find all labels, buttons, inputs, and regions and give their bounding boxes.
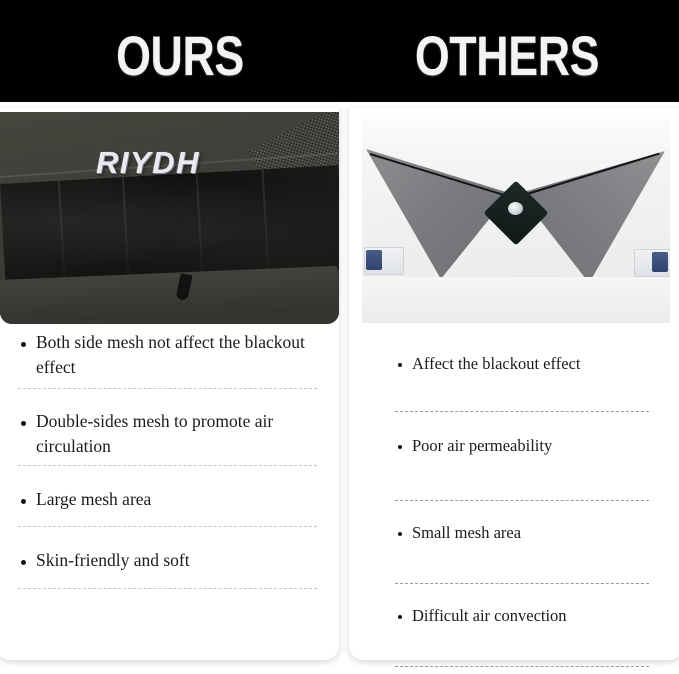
dashed-separator (395, 666, 649, 667)
brand-logo-text: RIYDH (96, 145, 200, 181)
photo-others-mesh-tent (362, 113, 670, 323)
bullet-icon (21, 499, 26, 504)
list-item: Small mesh area (349, 501, 679, 561)
feature-text: Difficult air convection (412, 604, 657, 628)
list-item: Affect the blackout effect (349, 330, 679, 388)
bullet-icon (21, 421, 26, 426)
feature-list-ours: Both side mesh not affect the blackout e… (0, 330, 339, 589)
tent-floor (362, 277, 670, 323)
bullet-icon (398, 363, 402, 367)
feature-text: Both side mesh not affect the blackout e… (36, 330, 317, 380)
bullet-icon (21, 342, 26, 347)
bullet-icon (398, 445, 402, 449)
bullet-icon (21, 560, 26, 565)
list-item: Double-sides mesh to promote air circula… (0, 389, 339, 465)
side-vent-right-accent (652, 252, 668, 272)
feature-text: Skin-friendly and soft (36, 548, 317, 573)
header-title-others: OTHERS (391, 26, 623, 86)
list-item: Difficult air convection (349, 584, 679, 644)
side-vent-left-accent (366, 250, 382, 270)
feature-text: Large mesh area (36, 487, 317, 512)
dashed-separator (18, 588, 317, 589)
feature-text: Affect the blackout effect (412, 352, 657, 376)
feature-text: Small mesh area (412, 521, 657, 545)
bullet-icon (398, 532, 402, 536)
header-title-ours: OURS (68, 26, 292, 86)
photo-ours-blackout-tent: RIYDH (0, 112, 339, 324)
tent-ceiling (362, 113, 670, 163)
list-item: Large mesh area (0, 466, 339, 526)
card-others: Affect the blackout effect Poor air perm… (349, 108, 679, 660)
list-item: Both side mesh not affect the blackout e… (0, 330, 339, 388)
list-item: Poor air permeability (349, 412, 679, 476)
comparison-infographic: OURS OTHERS RIYDH Both side mesh not aff… (0, 0, 679, 674)
card-ours: RIYDH Both side mesh not affect the blac… (0, 108, 339, 660)
feature-list-others: Affect the blackout effect Poor air perm… (349, 330, 679, 667)
bullet-icon (398, 615, 402, 619)
header-banner: OURS OTHERS (0, 0, 679, 102)
list-item: Skin-friendly and soft (0, 527, 339, 588)
center-hub-light-icon (508, 202, 523, 215)
feature-text: Poor air permeability (412, 434, 657, 458)
feature-text: Double-sides mesh to promote air circula… (36, 409, 317, 459)
